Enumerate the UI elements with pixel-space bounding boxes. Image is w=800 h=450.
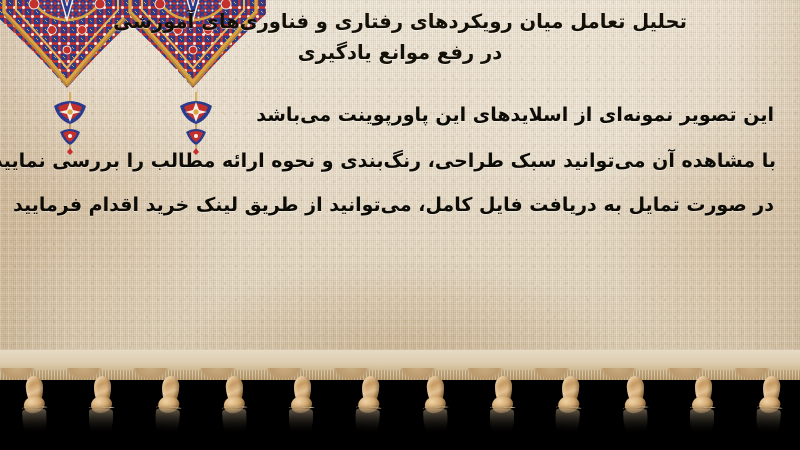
tassel-brush-strands	[288, 407, 316, 442]
tassel-brush-strands	[689, 407, 717, 442]
fringe-tassel	[154, 375, 183, 442]
tassel-knot-lower	[692, 396, 713, 413]
tassel-knot-lower	[23, 395, 45, 413]
tassel-knot-lower	[358, 395, 380, 413]
slide-body-text: این تصویر نمونه‌ای از اسلایدهای این پاور…	[20, 104, 776, 216]
fringe-tassel	[755, 375, 784, 442]
fringe-tassel	[490, 376, 516, 442]
fringe-tassel	[89, 376, 115, 442]
fringe-tassel	[421, 375, 450, 442]
fringe-tassel	[690, 376, 716, 442]
fringe-tassel	[289, 376, 315, 442]
slide-title-line-2: در رفع موانع یادگیری	[16, 37, 784, 68]
tassel-brush-strands	[422, 406, 452, 442]
tassel-knot-lower	[424, 395, 446, 413]
tassel-knot-lower	[91, 396, 112, 413]
fringe-tassel	[20, 375, 49, 442]
tassel-brush-strands	[353, 406, 383, 442]
tassel-knot-lower	[492, 396, 513, 413]
tassel-brush-strands	[88, 407, 116, 442]
fringe-tassel	[221, 375, 250, 442]
tassel-knot-lower	[224, 395, 246, 413]
tassel-brush-strands	[21, 406, 51, 442]
tassel-knot-lower	[157, 395, 179, 413]
carpet-fringe-tassels	[0, 350, 800, 450]
tassel-brush-strands	[489, 407, 517, 442]
tassel-brush-strands	[622, 406, 652, 442]
slide-title-line-1: تحلیل تعامل میان رویکردهای رفتاری و فناو…	[16, 6, 784, 37]
tassel-brush-strands	[554, 406, 584, 442]
fringe-scallop-arches	[0, 368, 800, 394]
fringe-tassel	[621, 375, 650, 442]
body-line-purchase-link: در صورت تمایل به دریافت فایل کامل، می‌تو…	[20, 194, 776, 216]
fringe-tassel	[555, 375, 584, 442]
tassel-knot-lower	[291, 396, 312, 413]
tassel-knot-lower	[558, 395, 580, 413]
tassel-knot-lower	[759, 395, 781, 413]
slide-title: تحلیل تعامل میان رویکردهای رفتاری و فناو…	[16, 6, 784, 68]
body-line-design-review: با مشاهده آن می‌توانید سبک طراحی، رنگ‌بن…	[20, 150, 776, 172]
body-line-sample-image: این تصویر نمونه‌ای از اسلایدهای این پاور…	[20, 104, 776, 126]
tassel-brush-strands	[754, 406, 784, 442]
fringe-tassel	[354, 375, 383, 442]
tassel-brush-strands	[221, 406, 251, 442]
tassel-knot-lower	[625, 395, 647, 413]
tassel-brush-strands	[153, 406, 183, 442]
slide-canvas: تحلیل تعامل میان رویکردهای رفتاری و فناو…	[0, 0, 800, 450]
